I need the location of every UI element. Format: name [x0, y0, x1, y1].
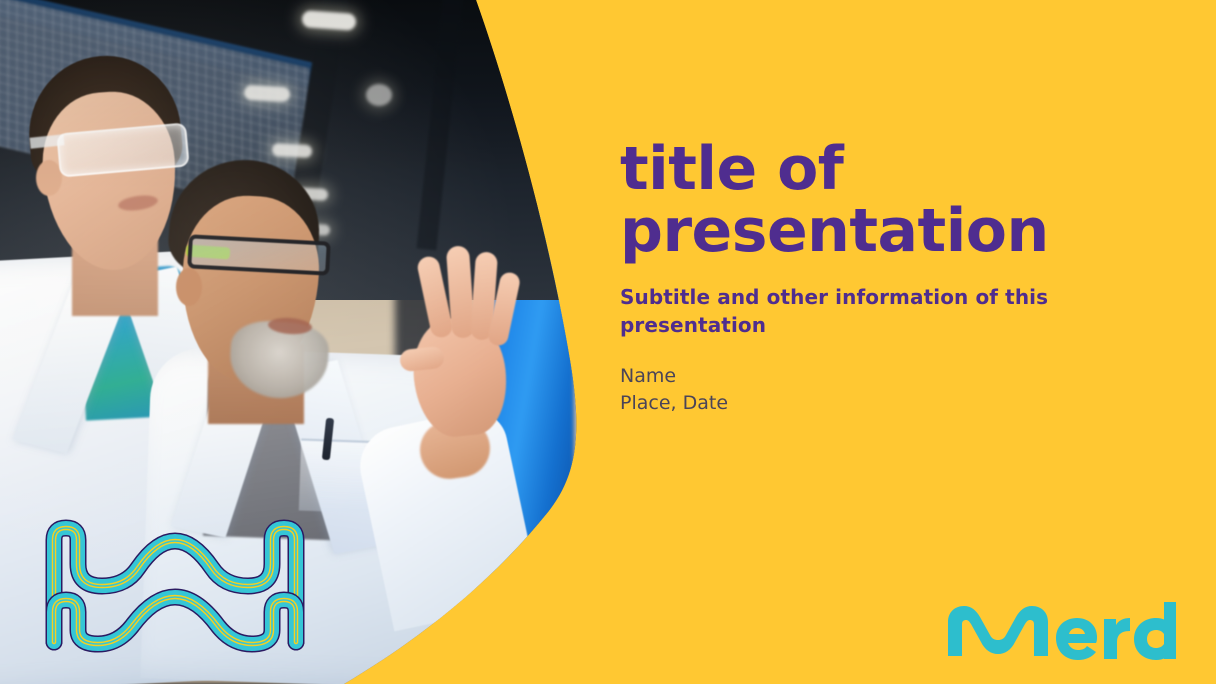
- photo-ceiling-lamp: [272, 143, 313, 158]
- presenter-meta: Name Place, Date: [620, 363, 1090, 417]
- title-line-2: presentation: [620, 200, 1180, 262]
- presenter-name: Name: [620, 363, 1090, 390]
- photo-ceiling-lamp: [366, 84, 392, 106]
- merck-m-monogram-logo: [40, 512, 310, 660]
- title-slide: title of presentation Subtitle and other…: [0, 0, 1216, 684]
- photo-ceiling-lamp: [244, 85, 291, 102]
- page-subtitle: Subtitle and other information of this p…: [620, 283, 1090, 339]
- title-text-column: title of presentation Subtitle and other…: [620, 0, 1180, 684]
- presenter-place-date: Place, Date: [620, 390, 1090, 417]
- page-title: title of presentation: [620, 138, 1180, 262]
- photo-person-right-ear: [176, 268, 202, 306]
- photo-person-left-ear: [36, 160, 62, 196]
- merck-wordmark-logo: [944, 602, 1176, 664]
- title-line-1: title of: [620, 138, 1180, 200]
